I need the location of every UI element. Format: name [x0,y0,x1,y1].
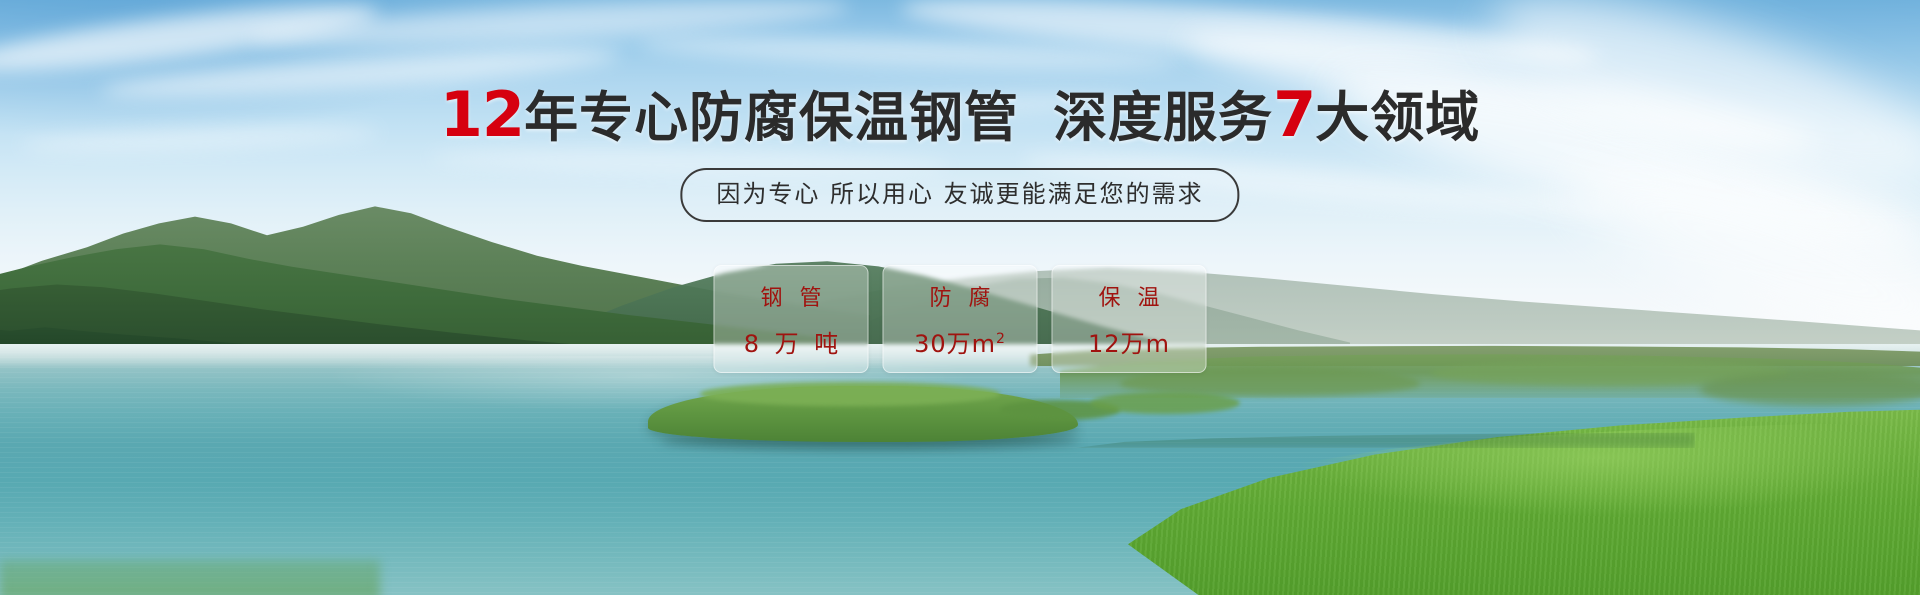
headline-years-number: 12 [440,78,524,151]
hero-banner: 12年专心防腐保温钢管深度服务7大领域 因为专心 所以用心 友诚更能满足您的需求… [0,0,1920,595]
stat-value-text: 12万m [1088,330,1170,358]
banner-subtitle-text: 因为专心 所以用心 友诚更能满足您的需求 [716,180,1203,208]
stat-card-anticorrosion[interactable]: 防 腐 30万m2 [883,265,1038,373]
banner-headline: 12年专心防腐保温钢管深度服务7大领域 [0,84,1920,146]
headline-fields-number: 7 [1273,78,1315,151]
stat-card-label: 保 温 [1094,280,1165,312]
stat-card-group: 钢 管 8 万 吨 防 腐 30万m2 保 温 12万m [714,265,1207,373]
stat-value-superscript: 2 [996,331,1006,347]
stat-card-insulation[interactable]: 保 温 12万m [1052,265,1207,373]
headline-service-text: 深度服务 [1053,86,1273,149]
stat-value-text: 8 万 吨 [744,330,843,358]
stat-card-value: 8 万 吨 [740,324,843,359]
banner-subtitle-pill: 因为专心 所以用心 友诚更能满足您的需求 [680,168,1239,222]
headline-fields-text: 大领域 [1315,86,1480,149]
headline-main-text: 年专心防腐保温钢管 [524,86,1019,149]
stat-card-value: 30万m2 [914,324,1006,359]
stat-card-label: 钢 管 [756,280,827,312]
stat-card-value: 12万m [1088,324,1170,359]
stat-value-text: 30万m [914,330,996,358]
stat-card-label: 防 腐 [925,280,996,312]
stat-card-steel-pipe[interactable]: 钢 管 8 万 吨 [714,265,869,373]
